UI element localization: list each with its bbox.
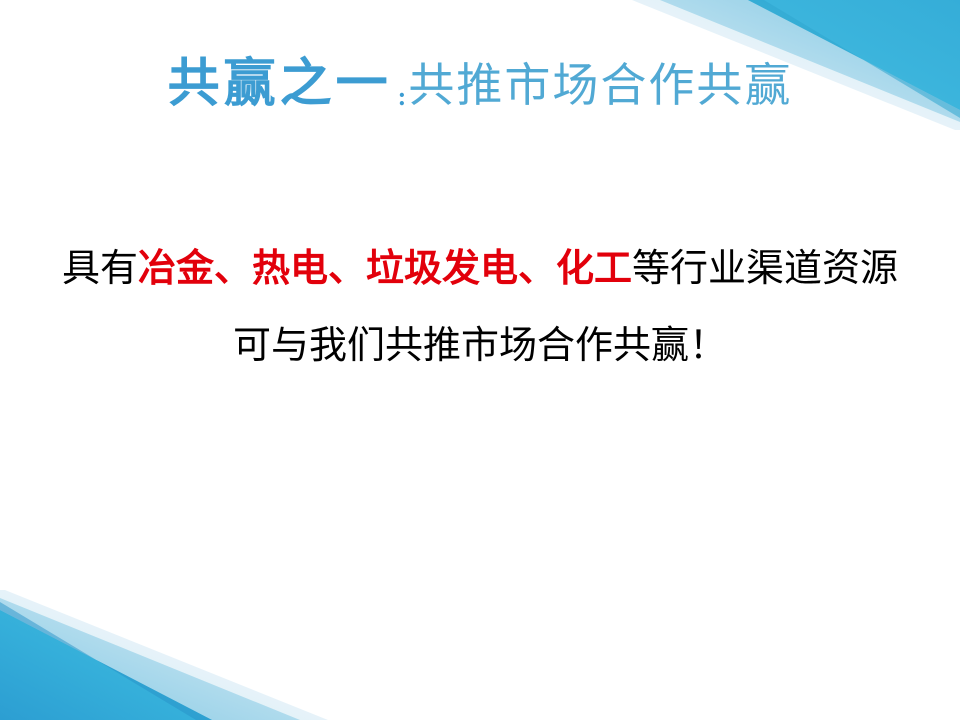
body-line-1-segment-1: 具有 [62, 248, 138, 290]
body-line-1-segment-3: 等行业渠道资源 [632, 248, 898, 290]
bottom-left-decoration-shapes [0, 590, 330, 720]
deco-light-band [0, 598, 300, 720]
title-main-text: 共赢之一 [168, 53, 392, 114]
slide-title: 共赢之一:共推市场合作共赢 [0, 58, 960, 110]
deco-teal-edge [0, 602, 212, 720]
deco-teal-triangle [0, 610, 212, 720]
body-line-1: 具有冶金、热电、垃圾发电、化工等行业渠道资源 [0, 240, 960, 299]
slide-body: 具有冶金、热电、垃圾发电、化工等行业渠道资源 可与我们共推市场合作共赢！ [0, 240, 960, 376]
body-line-1-segment-2-highlight: 冶金、热电、垃圾发电、化工 [138, 248, 632, 290]
body-line-2: 可与我们共推市场合作共赢！ [0, 317, 960, 376]
bottom-left-decoration [0, 590, 330, 720]
body-line-2-segment-1: 可与我们共推市场合作共赢！ [233, 325, 727, 367]
title-separator-colon: : [392, 82, 409, 111]
title-sub-text: 共推市场合作共赢 [408, 58, 792, 112]
slide-canvas: 共赢之一:共推市场合作共赢 具有冶金、热电、垃圾发电、化工等行业渠道资源 可与我… [0, 0, 960, 720]
deco-pale-band [0, 590, 328, 720]
